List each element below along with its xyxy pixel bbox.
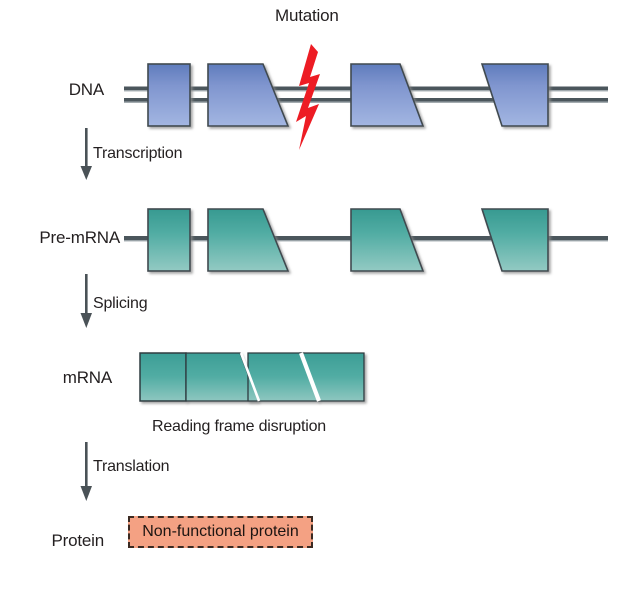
non-functional-protein-text: Non-functional protein xyxy=(142,523,299,541)
pre-mrna-exon-2 xyxy=(208,209,288,271)
step-label-splicing: Splicing xyxy=(93,295,147,313)
dna-exon-2 xyxy=(208,64,288,126)
gene-expression-diagram: DNA Transcription Pre-mRNA Splicing mRNA… xyxy=(0,0,617,591)
pre-mrna-exon-4 xyxy=(482,209,548,271)
pre-mrna-row xyxy=(124,209,608,271)
step-label-transcription: Transcription xyxy=(93,145,182,163)
row-label-mrna: mRNA xyxy=(34,368,112,388)
reading-frame-disruption-label: Reading frame disruption xyxy=(152,418,326,436)
mrna-exon-2 xyxy=(186,353,258,401)
dna-exon-1 xyxy=(148,64,190,126)
arrow-splicing xyxy=(81,274,93,328)
non-functional-protein-box: Non-functional protein xyxy=(128,516,313,548)
mrna-exon-1 xyxy=(140,353,186,401)
step-label-translation: Translation xyxy=(93,458,169,476)
pre-mrna-exon-1 xyxy=(148,209,190,271)
dna-exon-3 xyxy=(351,64,423,126)
row-label-dna: DNA xyxy=(26,80,104,100)
row-label-pre-mrna: Pre-mRNA xyxy=(16,228,120,248)
arrow-translation xyxy=(81,442,93,501)
mrna-row xyxy=(140,353,364,401)
dna-row xyxy=(124,44,608,150)
mutation-bolt-icon xyxy=(296,44,320,150)
arrow-transcription xyxy=(81,128,93,180)
row-label-protein: Protein xyxy=(26,531,104,551)
mutation-label: Mutation xyxy=(275,6,339,26)
pre-mrna-exon-3 xyxy=(351,209,423,271)
dna-exon-4 xyxy=(482,64,548,126)
